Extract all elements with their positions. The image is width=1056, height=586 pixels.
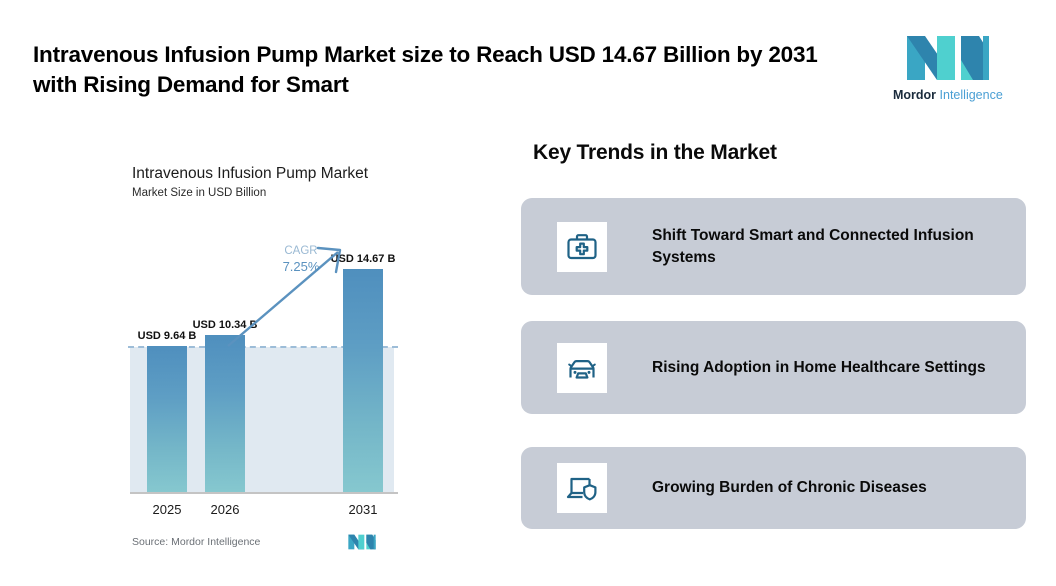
key-trends-heading: Key Trends in the Market <box>533 141 777 165</box>
brand-word-1: Mordor <box>893 88 936 102</box>
cagr-value: 7.25% <box>270 259 332 274</box>
bar-2026 <box>205 335 245 493</box>
cagr-annotation: CAGR 7.25% <box>270 245 332 274</box>
trend-card-3-label: Growing Burden of Chronic Diseases <box>652 477 927 499</box>
trend-card-3[interactable]: Growing Burden of Chronic Diseases <box>521 447 1026 529</box>
monitor-shield-icon <box>557 463 607 513</box>
mordor-intelligence-logo-icon-small <box>347 533 377 551</box>
brand-logo: Mordor Intelligence <box>893 32 1001 104</box>
chart-panel: Intravenous Infusion Pump Market Market … <box>0 125 500 586</box>
bar-value-label-2025: USD 9.64 B <box>112 330 222 342</box>
chart-subtitle: Market Size in USD Billion <box>132 187 266 199</box>
trend-card-1-label: Shift Toward Smart and Connected Infusio… <box>652 225 1008 269</box>
bar-2025 <box>147 346 187 493</box>
trend-card-1[interactable]: Shift Toward Smart and Connected Infusio… <box>521 198 1026 295</box>
key-trends-panel: Key Trends in the Market Shift Toward Sm… <box>521 125 1026 565</box>
mordor-intelligence-logo-icon <box>903 32 993 84</box>
chart-source-text: Source: Mordor Intelligence <box>132 536 260 548</box>
page-title: Intravenous Infusion Pump Market size to… <box>33 40 863 99</box>
chart-source-row: Source: Mordor Intelligence <box>132 533 394 555</box>
car-front-icon <box>557 343 607 393</box>
x-axis-line <box>130 492 398 494</box>
chart-title: Intravenous Infusion Pump Market <box>132 165 368 183</box>
first-aid-kit-icon <box>557 222 607 272</box>
trend-card-2[interactable]: Rising Adoption in Home Healthcare Setti… <box>521 321 1026 414</box>
brand-wordmark: Mordor Intelligence <box>893 88 1001 102</box>
x-axis-tick-2031: 2031 <box>333 502 393 517</box>
cagr-label: CAGR <box>270 245 332 259</box>
bar-chart-plot: USD 9.64 B USD 10.34 B USD 14.67 B 2025 … <box>130 220 394 495</box>
brand-word-2: Intelligence <box>936 88 1003 102</box>
trend-card-2-label: Rising Adoption in Home Healthcare Setti… <box>652 357 986 379</box>
x-axis-tick-2025: 2025 <box>137 502 197 517</box>
x-axis-tick-2026: 2026 <box>195 502 255 517</box>
page-header: Intravenous Infusion Pump Market size to… <box>0 0 1056 125</box>
